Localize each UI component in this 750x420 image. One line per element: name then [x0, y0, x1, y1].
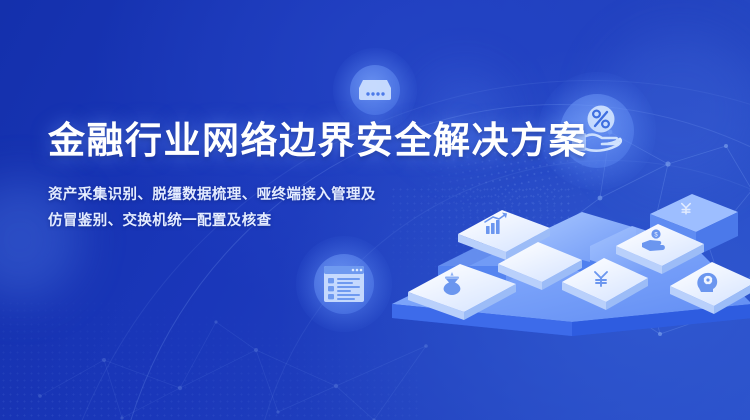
subtitle-line-1: 资产采集识别、脱缰数据梳理、哑终端接入管理及 [48, 183, 587, 208]
document-checklist-icon [322, 264, 366, 304]
document-checklist-badge [296, 236, 392, 332]
subtitle-line-2: 仿冒鉴别、交换机统一配置及核查 [48, 209, 587, 234]
page-subtitle: 资产采集识别、脱缰数据梳理、哑终端接入管理及 仿冒鉴别、交换机统一配置及核查 [48, 183, 587, 234]
banner-root: $ 金融行业网络边界安全解决方案 资产采集识别、脱缰数据梳理、哑终端接入 [0, 0, 750, 420]
router-icon [355, 76, 395, 104]
page-title: 金融行业网络边界安全解决方案 [48, 120, 587, 161]
banner-text-block: 金融行业网络边界安全解决方案 资产采集识别、脱缰数据梳理、哑终端接入管理及 仿冒… [48, 120, 587, 234]
